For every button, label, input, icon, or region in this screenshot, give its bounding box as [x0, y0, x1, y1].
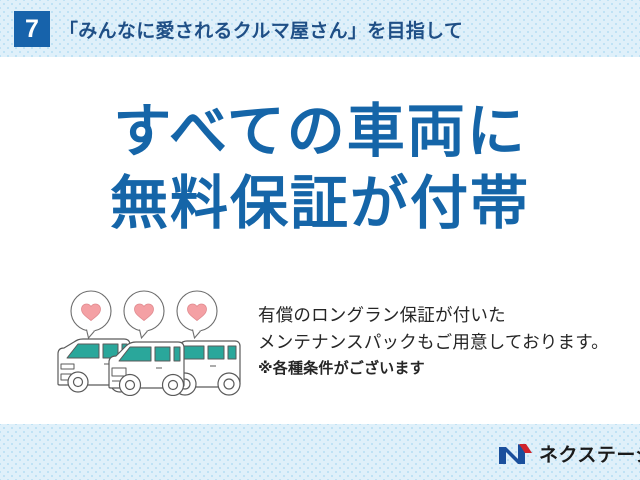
info-block: 有償のロングラン保証が付いた メンテナンスパックもご用意しております。 ※各種条…: [0, 288, 640, 408]
headline-line-1: すべての車両に: [0, 96, 640, 168]
warranty-banner: 7 「みんなに愛されるクルマ屋さん」を目指して すべての車両に 無料保証が付帯: [0, 0, 640, 480]
body-copy-line-1: 有償のロングラン保証が付いた: [258, 302, 630, 329]
body-copy-line-2: メンテナンスパックもご用意しております。: [258, 329, 630, 356]
header-title: 「みんなに愛されるクルマ屋さん」を目指して: [59, 16, 463, 43]
brand-lockup: ネクステージ: [498, 440, 640, 467]
body-copy: 有償のロングラン保証が付いた メンテナンスパックもご用意しております。 ※各種条…: [258, 302, 630, 381]
headline-line-2: 無料保証が付帯: [0, 168, 640, 240]
brand-name: ネクステージ: [539, 440, 640, 467]
three-cars-with-heart-bubbles-illustration: [52, 288, 250, 396]
page-title: すべての車両に 無料保証が付帯: [0, 96, 640, 240]
section-number-badge: 7: [14, 11, 50, 47]
body-copy-note: ※各種条件がございます: [258, 356, 630, 381]
nextage-n-logo-icon: [498, 442, 532, 466]
